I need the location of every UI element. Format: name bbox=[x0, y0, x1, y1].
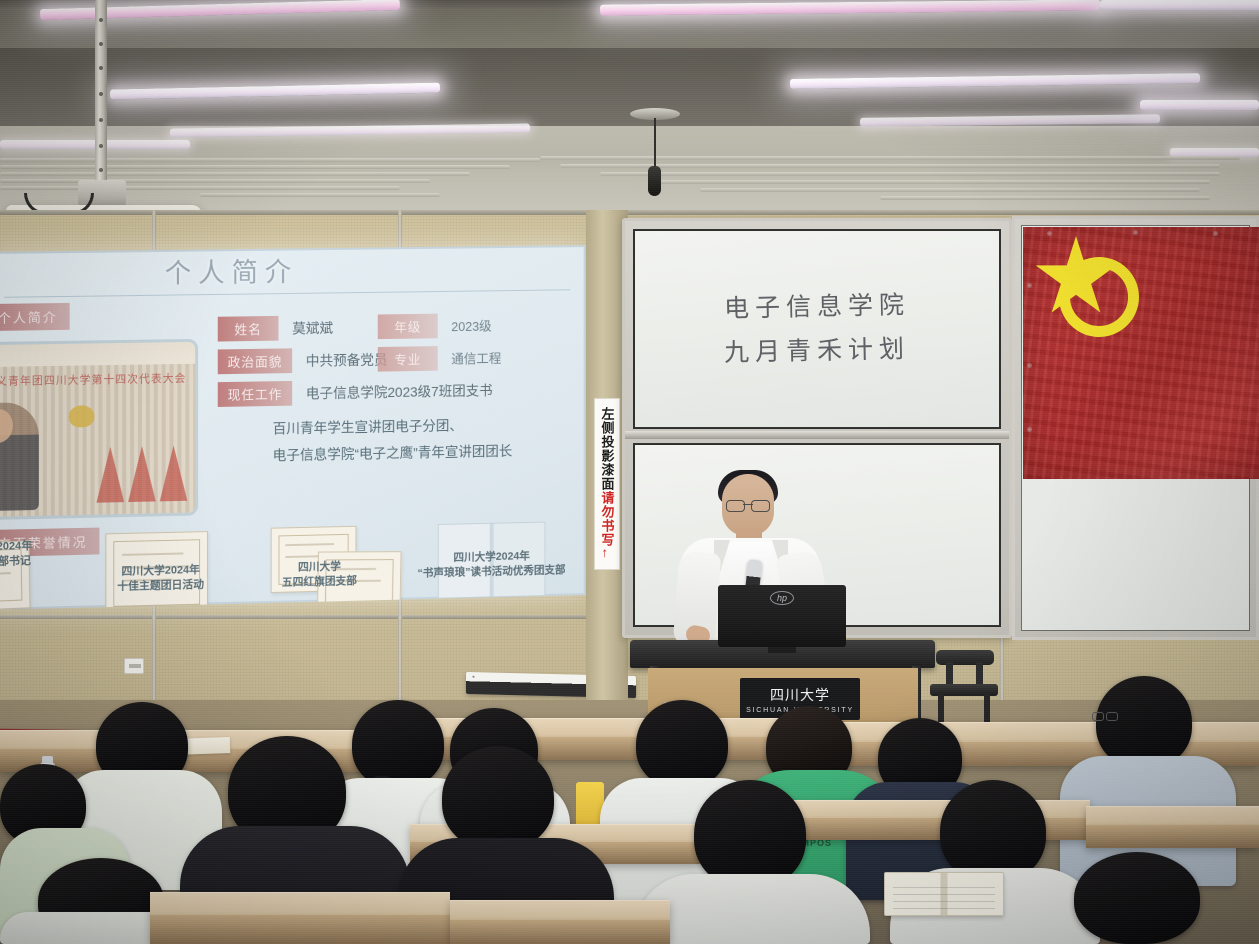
youth-league-star-emblem-icon bbox=[1059, 257, 1139, 337]
field-key-grade: 年级 bbox=[378, 314, 438, 339]
field-key-name: 姓名 bbox=[218, 316, 279, 342]
student-head bbox=[352, 700, 444, 788]
certificate-caption: 四川大学2024年 “书声琅琅”读书活动优秀团支部 bbox=[405, 548, 578, 581]
slide-field-row: 专业 通信工程 bbox=[378, 345, 502, 372]
student-head bbox=[1096, 676, 1192, 768]
wall-power-outlet bbox=[124, 658, 144, 674]
warning-sign-arrow-icon: ← bbox=[600, 547, 615, 561]
field-key-political-status: 政治面貌 bbox=[218, 348, 292, 374]
ceiling bbox=[0, 0, 1259, 215]
flag-display-board bbox=[1012, 216, 1259, 640]
ceiling-light-tube bbox=[1140, 100, 1259, 110]
youth-league-emblem-icon bbox=[69, 405, 95, 427]
field-key-current-role: 现任工作 bbox=[218, 381, 292, 407]
field-value-current-role: 电子信息学院2023级7班团支书 bbox=[306, 380, 493, 403]
student-desk bbox=[450, 900, 670, 944]
classroom-photo: EPSON ● 个人简介 个人简介 方面荣誉情况 共产主义青年团四川大学第十四次… bbox=[0, 0, 1259, 944]
slide-field-row: 姓名 莫斌斌 bbox=[218, 315, 333, 341]
hp-monitor: hp bbox=[718, 585, 846, 647]
field-value-grade: 2023级 bbox=[451, 316, 491, 335]
student-head bbox=[694, 780, 806, 888]
whiteboard-top-panel: 电子信息学院 九月青禾计划 bbox=[633, 229, 1001, 429]
student-head bbox=[636, 700, 728, 788]
student-head bbox=[442, 746, 554, 850]
whiteboard-line-2: 九月青禾计划 bbox=[635, 327, 1000, 371]
slide-section-badge-top: 个人简介 bbox=[0, 303, 70, 331]
university-logo-cn: 四川大学 bbox=[770, 685, 830, 705]
student-head bbox=[940, 780, 1046, 882]
field-value-major: 通信工程 bbox=[451, 348, 501, 367]
ceiling-light-tube bbox=[1100, 0, 1259, 10]
roller-label: ● bbox=[472, 674, 475, 680]
stage-chair bbox=[930, 650, 1000, 720]
warning-sign-red-text: 请勿书写 bbox=[600, 491, 615, 547]
slide-body-line: 百川青年学生宣讲团电子分团、 bbox=[273, 415, 463, 438]
field-key-major: 专业 bbox=[378, 346, 438, 372]
presenter-glasses-icon bbox=[726, 500, 770, 510]
ceiling-mic-wire bbox=[654, 118, 656, 170]
certificate-caption: 四川大学2024年 十佳主题团日活动 bbox=[91, 562, 229, 595]
projector-mount-pole bbox=[95, 0, 107, 185]
slide-title: 个人简介 bbox=[165, 250, 298, 290]
field-value-political-status: 中共预备党员 bbox=[306, 349, 388, 370]
communist-youth-league-flag bbox=[1023, 227, 1259, 479]
hp-logo: hp bbox=[770, 591, 794, 605]
student-desk bbox=[1086, 806, 1259, 848]
slide-photo: 共产主义青年团四川大学第十四次代表大会 bbox=[0, 339, 198, 521]
field-value-name: 莫斌斌 bbox=[292, 318, 333, 338]
slide-field-row: 年级 2023级 bbox=[378, 313, 492, 339]
certificate-caption: 川大学2024年 佳团支部书记 bbox=[0, 538, 68, 571]
student-desk bbox=[150, 892, 450, 944]
certificate-caption: 四川大学 五四红旗团支部 bbox=[261, 559, 378, 591]
warning-sign-black-text: 左侧投影漆面 bbox=[600, 407, 615, 491]
slide-field-row: 政治面貌 中共预备党员 bbox=[218, 347, 388, 374]
do-not-write-warning-sign: 左侧投影漆面请勿书写← bbox=[594, 398, 620, 570]
slide-field-row: 现任工作 电子信息学院2023级7班团支书 bbox=[218, 378, 493, 407]
student-glasses-icon bbox=[1092, 712, 1118, 719]
projected-slide: 个人简介 个人简介 方面荣誉情况 共产主义青年团四川大学第十四次代表大会 姓名 … bbox=[0, 245, 586, 610]
hanging-microphone-icon bbox=[648, 166, 661, 196]
student-head bbox=[1074, 852, 1200, 944]
open-notebook bbox=[884, 872, 1004, 916]
whiteboard-line-1: 电子信息学院 bbox=[635, 283, 1000, 327]
